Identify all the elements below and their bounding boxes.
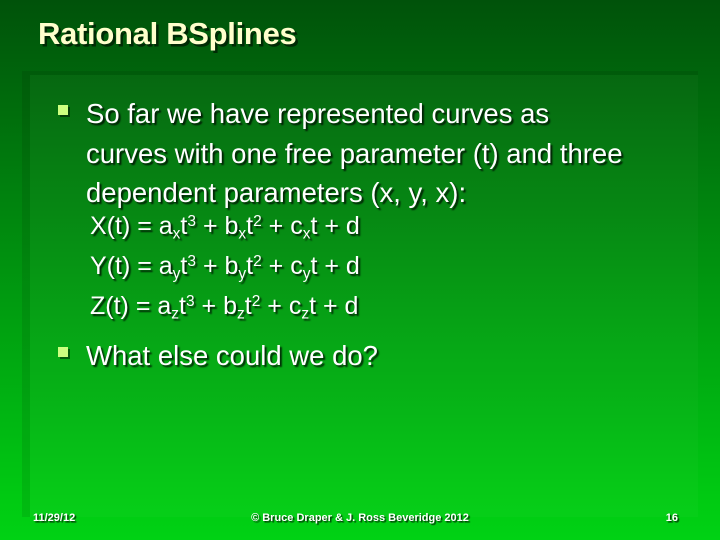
equation-z-sup-1: 3 — [186, 293, 195, 310]
bullet-item-2: What else could we do? — [58, 336, 658, 376]
equation-z-tail: t + d — [309, 292, 358, 320]
equation-x-sub-2: x — [238, 225, 246, 242]
equation-z-mid-4: + c — [260, 292, 301, 320]
equation-y-mid-2: + b — [196, 252, 238, 280]
equation-x-sup-2: 2 — [253, 213, 262, 230]
equation-y-tail: t + d — [310, 252, 359, 280]
equation-z-sub-1: z — [171, 305, 179, 322]
footer-slide-number: 16 — [0, 512, 720, 524]
equation-z-sub-3: z — [301, 305, 309, 322]
equation-x-lhs: X(t) = a — [90, 212, 173, 240]
equation-y-sup-2: 2 — [253, 253, 262, 270]
equation-z-mid-1: t — [179, 292, 186, 320]
bullet-item-2-text: What else could we do? — [86, 336, 378, 376]
equation-x-sup-1: 3 — [187, 213, 196, 230]
equation-z-mid-3: t — [245, 292, 252, 320]
equation-z: Z(t) = azt3 + bzt2 + czt + d — [90, 286, 360, 326]
equation-list: X(t) = axt3 + bxt2 + cxt + d Y(t) = ayt3… — [90, 206, 360, 326]
equation-z-lhs: Z(t) = a — [90, 292, 171, 320]
equation-y: Y(t) = ayt3 + byt2 + cyt + d — [90, 246, 360, 286]
equation-x-mid-2: + b — [196, 212, 238, 240]
square-bullet-icon — [58, 347, 68, 357]
slide-body: So far we have represented curves as cur… — [0, 0, 720, 540]
equation-x-tail: t + d — [310, 212, 359, 240]
equation-z-mid-2: + b — [195, 292, 237, 320]
bullet-item-1: So far we have represented curves as cur… — [58, 94, 658, 213]
equation-x-mid-4: + c — [262, 212, 303, 240]
equation-y-sup-1: 3 — [187, 253, 196, 270]
bullet-item-1-text: So far we have represented curves as cur… — [86, 94, 631, 213]
equation-y-lhs: Y(t) = a — [90, 252, 173, 280]
equation-z-sub-2: z — [237, 305, 245, 322]
presentation-slide: Rational BSplines So far we have represe… — [0, 0, 720, 540]
equation-y-mid-4: + c — [262, 252, 303, 280]
equation-y-sub-2: y — [238, 265, 246, 282]
square-bullet-icon — [58, 105, 68, 115]
equation-x: X(t) = axt3 + bxt2 + cxt + d — [90, 206, 360, 246]
